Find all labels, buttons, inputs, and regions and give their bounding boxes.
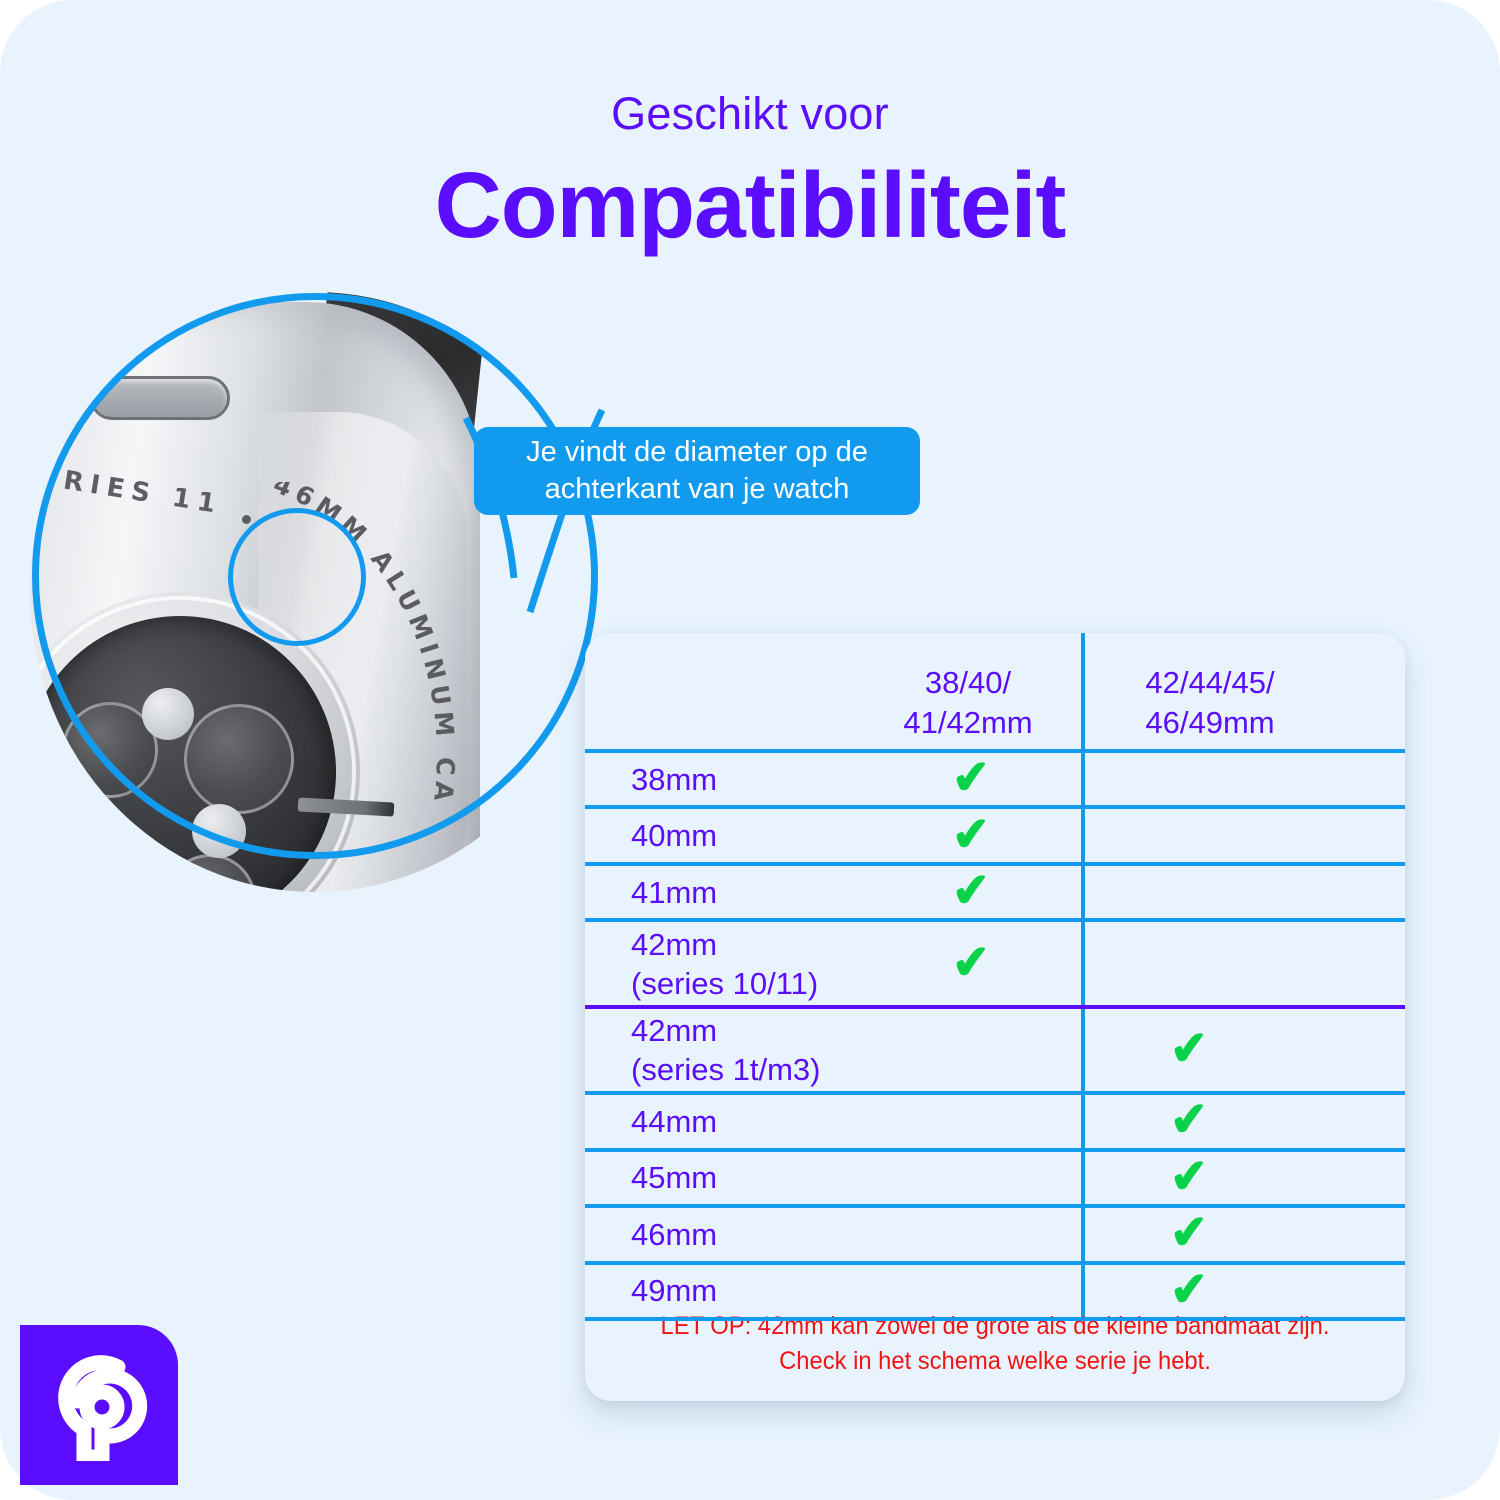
- table-row-label-line1: 42mm: [631, 1011, 820, 1050]
- compatibility-check-icon: ✔: [1168, 1024, 1210, 1073]
- table-row-label: 42mm(series 1t/m3): [631, 1011, 820, 1090]
- compatibility-check-icon: ✔: [950, 753, 992, 802]
- row-divider-emphasis: [585, 1005, 1405, 1009]
- row-divider: [585, 862, 1405, 866]
- infographic-canvas: Geschikt voor Compatibiliteit ERIES 11: [0, 0, 1500, 1500]
- table-row-label: 46mm: [631, 1215, 717, 1254]
- row-divider: [585, 805, 1405, 809]
- warning-note-line2: Check in het schema welke serie je hebt.: [606, 1344, 1385, 1379]
- warning-note-line1: LET OP: 42mm kan zowel de grote als de k…: [606, 1309, 1385, 1344]
- table-row-label-line1: 42mm: [631, 925, 818, 964]
- callout-line-1: Je vindt de diameter op de: [526, 434, 868, 471]
- page-title: Compatibiliteit: [0, 152, 1500, 259]
- table-row-label-line2: (series 10/11): [631, 964, 818, 1003]
- brand-logo[interactable]: [20, 1325, 178, 1485]
- callout-line-2: achterkant van je watch: [545, 471, 850, 508]
- compatibility-check-icon: ✔: [950, 937, 992, 986]
- table-row-label: 49mm: [631, 1271, 717, 1310]
- callout-bubble: Je vindt de diameter op de achterkant va…: [474, 427, 920, 515]
- kicker-text: Geschikt voor: [0, 88, 1500, 140]
- table-row-label: 45mm: [631, 1158, 717, 1197]
- row-divider: [585, 1204, 1405, 1208]
- compatibility-check-icon: ✔: [1168, 1208, 1210, 1257]
- compatibility-check-icon: ✔: [950, 809, 992, 858]
- table-row-label-line1: 38mm: [631, 760, 717, 799]
- diameter-highlight-circle: [228, 508, 366, 646]
- row-divider: [585, 918, 1405, 922]
- brand-monogram-icon: [46, 1349, 152, 1461]
- compatibility-table-card: 38/40/ 41/42mm 42/44/45/ 46/49mm LET OP:…: [585, 633, 1405, 1401]
- table-row-label: 38mm: [631, 760, 717, 799]
- column-header-small-line1: 38/40/: [855, 663, 1081, 703]
- compatibility-check-icon: ✔: [950, 866, 992, 915]
- table-row-label-line1: 44mm: [631, 1102, 717, 1141]
- column-header-small-line2: 41/42mm: [855, 703, 1081, 743]
- column-header-small: 38/40/ 41/42mm: [855, 663, 1081, 744]
- column-header-large-line2: 46/49mm: [1085, 703, 1335, 743]
- row-divider: [585, 1261, 1405, 1265]
- table-row-label-line1: 49mm: [631, 1271, 717, 1310]
- row-divider: [585, 1091, 1405, 1095]
- row-divider: [585, 1317, 1405, 1321]
- compatibility-check-icon: ✔: [1168, 1264, 1210, 1313]
- table-row-label-line1: 46mm: [631, 1215, 717, 1254]
- table-row-label-line1: 41mm: [631, 873, 717, 912]
- table-row-label-line1: 40mm: [631, 816, 717, 855]
- column-header-large: 42/44/45/ 46/49mm: [1085, 663, 1335, 744]
- column-header-large-line1: 42/44/45/: [1085, 663, 1335, 703]
- table-row-label: 44mm: [631, 1102, 717, 1141]
- compatibility-check-icon: ✔: [1168, 1095, 1210, 1144]
- compatibility-table: 38/40/ 41/42mm 42/44/45/ 46/49mm LET OP:…: [585, 633, 1405, 1401]
- row-divider: [585, 1148, 1405, 1152]
- table-row-label: 42mm(series 10/11): [631, 925, 818, 1004]
- table-row-label-line1: 45mm: [631, 1158, 717, 1197]
- table-row-label-line2: (series 1t/m3): [631, 1050, 820, 1089]
- table-row-label: 40mm: [631, 816, 717, 855]
- table-row-label: 41mm: [631, 873, 717, 912]
- compatibility-check-icon: ✔: [1168, 1152, 1210, 1201]
- row-divider: [585, 749, 1405, 753]
